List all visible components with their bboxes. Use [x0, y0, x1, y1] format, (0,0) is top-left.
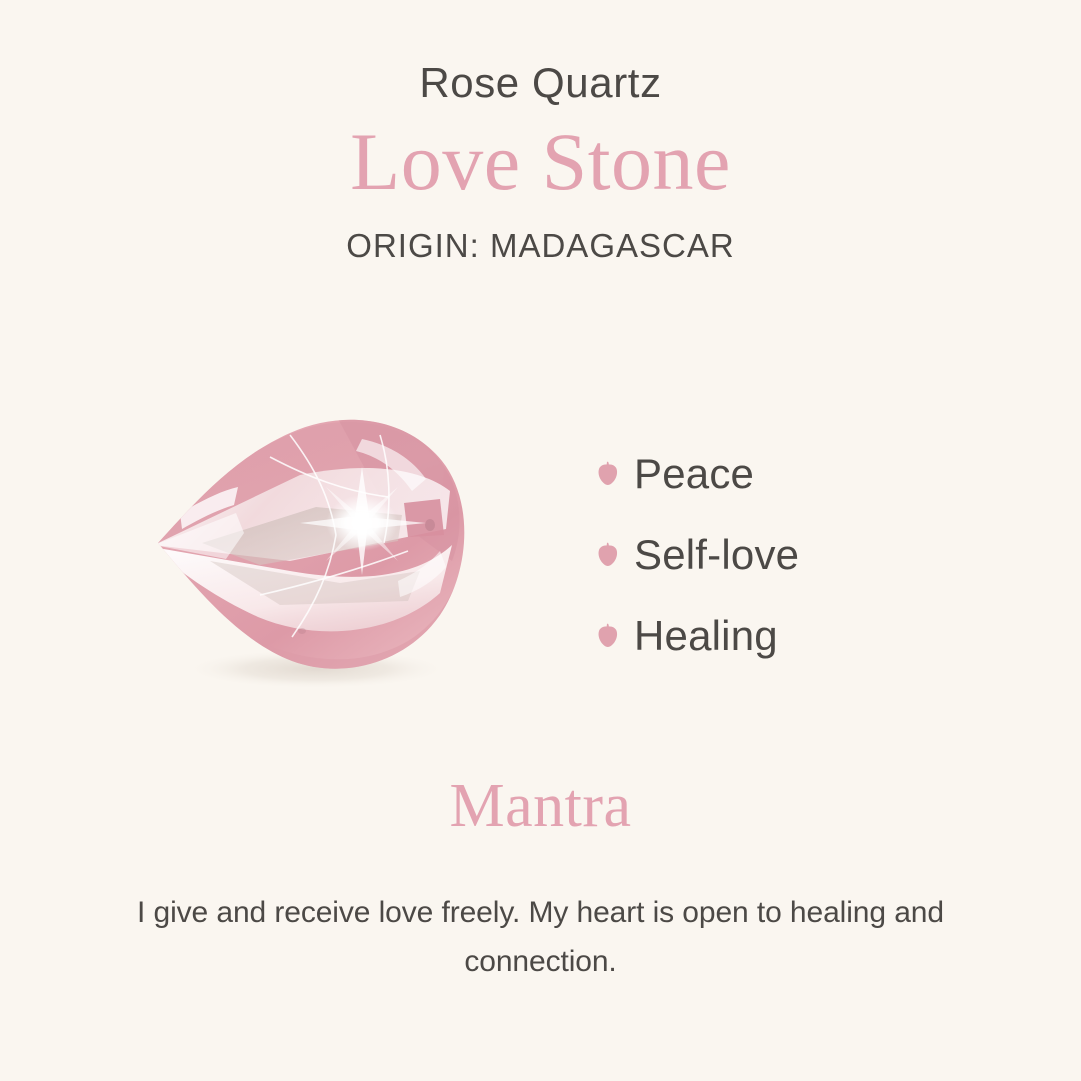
gem-illustration-wrap: [140, 395, 490, 695]
rose-quartz-gem-icon: [140, 395, 490, 695]
property-label: Self-love: [634, 534, 799, 576]
gem-body: [150, 415, 470, 695]
rose-quartz-card: Rose Quartz Love Stone ORIGIN: MADAGASCA…: [0, 0, 1081, 1081]
list-item: Self-love: [596, 514, 996, 595]
gem-bullet-icon: [596, 621, 620, 651]
stone-name-kicker: Rose Quartz: [0, 0, 1081, 104]
gem-and-properties-section: Peace Self-love Healing: [0, 395, 1081, 695]
gem-bullet-icon: [596, 540, 620, 570]
mantra-text: I give and receive love freely. My heart…: [131, 846, 951, 987]
origin-label: ORIGIN: MADAGASCAR: [0, 207, 1081, 262]
property-label: Healing: [634, 615, 778, 657]
mantra-title: Mantra: [0, 768, 1081, 846]
property-label: Peace: [634, 453, 754, 495]
page-title: Love Stone: [0, 104, 1081, 207]
properties-list: Peace Self-love Healing: [596, 433, 996, 676]
gem-bullet-icon: [596, 459, 620, 489]
list-item: Healing: [596, 595, 996, 676]
card-header: Rose Quartz Love Stone ORIGIN: MADAGASCA…: [0, 0, 1081, 262]
list-item: Peace: [596, 433, 996, 514]
mantra-section: Mantra I give and receive love freely. M…: [0, 768, 1081, 987]
